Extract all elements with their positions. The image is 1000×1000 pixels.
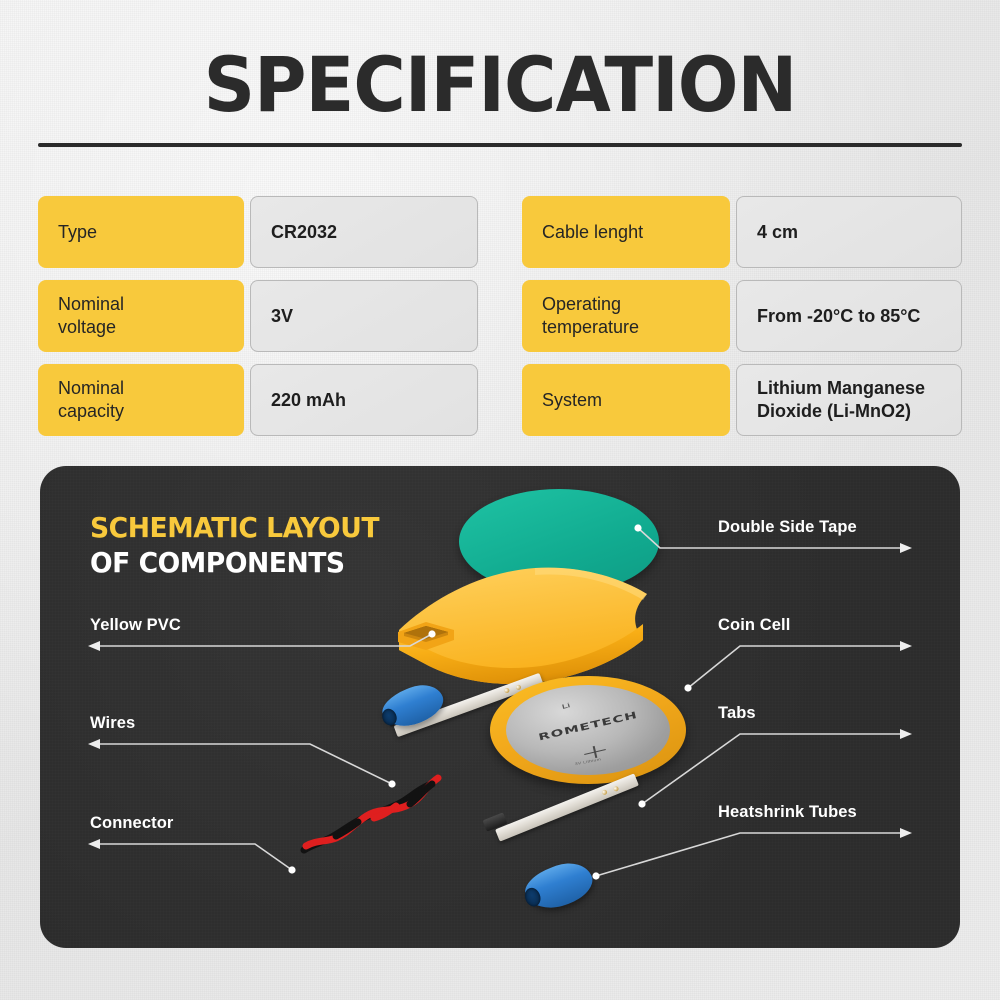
yellow-pvc-open-end [396, 618, 456, 658]
spec-label-system: System [522, 364, 730, 436]
specification-table: Type CR2032 Nominal voltage 3V Nominal c… [38, 196, 962, 436]
spec-group-right: Cable lenght 4 cm Operating temperature … [522, 196, 962, 436]
schematic-layout-panel: SCHEMATIC LAYOUT OF COMPONENTS [40, 466, 960, 948]
spec-value-system: Lithium Manganese Dioxide (Li-MnO2) [736, 364, 962, 436]
callout-yellow-pvc: Yellow PVC [90, 616, 181, 635]
callout-tabs: Tabs [718, 704, 756, 723]
callout-coin-cell: Coin Cell [718, 616, 790, 635]
callout-connector: Connector [90, 814, 173, 833]
spec-value-nominal-capacity: 220 mAh [250, 364, 478, 436]
spec-row: Type CR2032 [38, 196, 478, 268]
spec-value-operating-temperature: From -20°C to 85°C [736, 280, 962, 352]
spec-label-line1: Nominal [58, 378, 124, 398]
spec-row: System Lithium Manganese Dioxide (Li-MnO… [522, 364, 962, 436]
spec-group-left: Type CR2032 Nominal voltage 3V Nominal c… [38, 196, 478, 436]
spec-row: Nominal capacity 220 mAh [38, 364, 478, 436]
heatshrink-tube-lower [520, 856, 598, 917]
spec-label-line1: Nominal [58, 294, 124, 314]
spec-label-cable-lenght: Cable lenght [522, 196, 730, 268]
spec-label-type: Type [38, 196, 244, 268]
spec-value-type: CR2032 [250, 196, 478, 268]
tab-rivet [601, 789, 608, 796]
spec-label-nominal-capacity: Nominal capacity [38, 364, 244, 436]
spec-label-line1: Operating [542, 294, 621, 314]
spec-value-line2: Dioxide (Li-MnO2) [757, 401, 911, 421]
spec-label-line2: temperature [542, 317, 639, 337]
spec-label-line2: voltage [58, 317, 116, 337]
heatshrink-tube-body [520, 856, 598, 917]
spec-label-line2: capacity [58, 401, 124, 421]
spec-row: Operating temperature From -20°C to 85°C [522, 280, 962, 352]
page-title: SPECIFICATION [30, 42, 970, 128]
spec-label-operating-temperature: Operating temperature [522, 280, 730, 352]
spec-row: Nominal voltage 3V [38, 280, 478, 352]
coin-cell-face: Li ROMETECH 3V Lithium [506, 685, 670, 775]
spec-row: Cable lenght 4 cm [522, 196, 962, 268]
title-divider [38, 143, 962, 147]
callout-heatshrink-tubes: Heatshrink Tubes [718, 803, 857, 822]
callout-wires: Wires [90, 714, 135, 733]
product-illustration: Li ROMETECH 3V Lithium [40, 466, 960, 948]
spec-value-cable-lenght: 4 cm [736, 196, 962, 268]
callout-double-side-tape: Double Side Tape [718, 518, 857, 537]
spec-value-nominal-voltage: 3V [250, 280, 478, 352]
spec-label-nominal-voltage: Nominal voltage [38, 280, 244, 352]
coin-cell-mark: Li [561, 702, 570, 711]
tab-rivet [613, 786, 620, 793]
spec-value-line1: Lithium Manganese [757, 378, 925, 398]
coin-cell-part: Li ROMETECH 3V Lithium [490, 676, 686, 784]
coin-cell-brand: ROMETECH [507, 702, 669, 750]
